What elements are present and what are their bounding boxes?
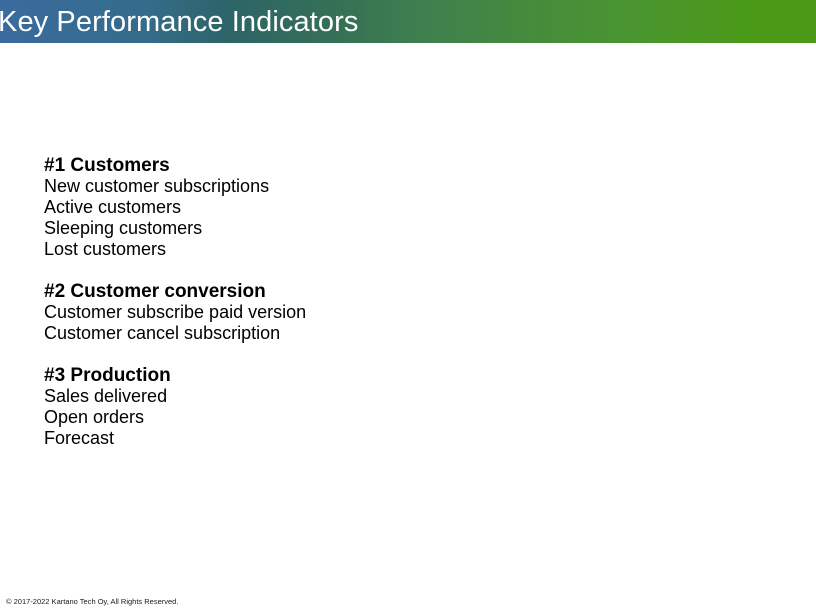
page-title: Key Performance Indicators <box>0 4 358 40</box>
kpi-content: #1 Customers New customer subscriptions … <box>44 155 644 449</box>
kpi-group: #1 Customers New customer subscriptions … <box>44 155 644 260</box>
list-item: New customer subscriptions <box>44 176 644 197</box>
list-item: Open orders <box>44 407 644 428</box>
list-item: Sales delivered <box>44 386 644 407</box>
kpi-group-heading: #2 Customer conversion <box>44 281 644 302</box>
list-item: Customer subscribe paid version <box>44 302 644 323</box>
list-item: Customer cancel subscription <box>44 323 644 344</box>
list-item: Active customers <box>44 197 644 218</box>
kpi-group: #3 Production Sales delivered Open order… <box>44 365 644 449</box>
kpi-item-list: Customer subscribe paid version Customer… <box>44 302 644 344</box>
list-item: Lost customers <box>44 239 644 260</box>
kpi-item-list: New customer subscriptions Active custom… <box>44 176 644 260</box>
kpi-group: #2 Customer conversion Customer subscrib… <box>44 281 644 344</box>
slide-canvas: Key Performance Indicators #1 Customers … <box>0 0 816 613</box>
title-banner: Key Performance Indicators <box>0 0 816 43</box>
list-item: Forecast <box>44 428 644 449</box>
kpi-item-list: Sales delivered Open orders Forecast <box>44 386 644 449</box>
kpi-group-heading: #1 Customers <box>44 155 644 176</box>
footer-copyright: © 2017-2022 Kartano Tech Oy, All Rights … <box>6 597 178 607</box>
list-item: Sleeping customers <box>44 218 644 239</box>
kpi-group-heading: #3 Production <box>44 365 644 386</box>
